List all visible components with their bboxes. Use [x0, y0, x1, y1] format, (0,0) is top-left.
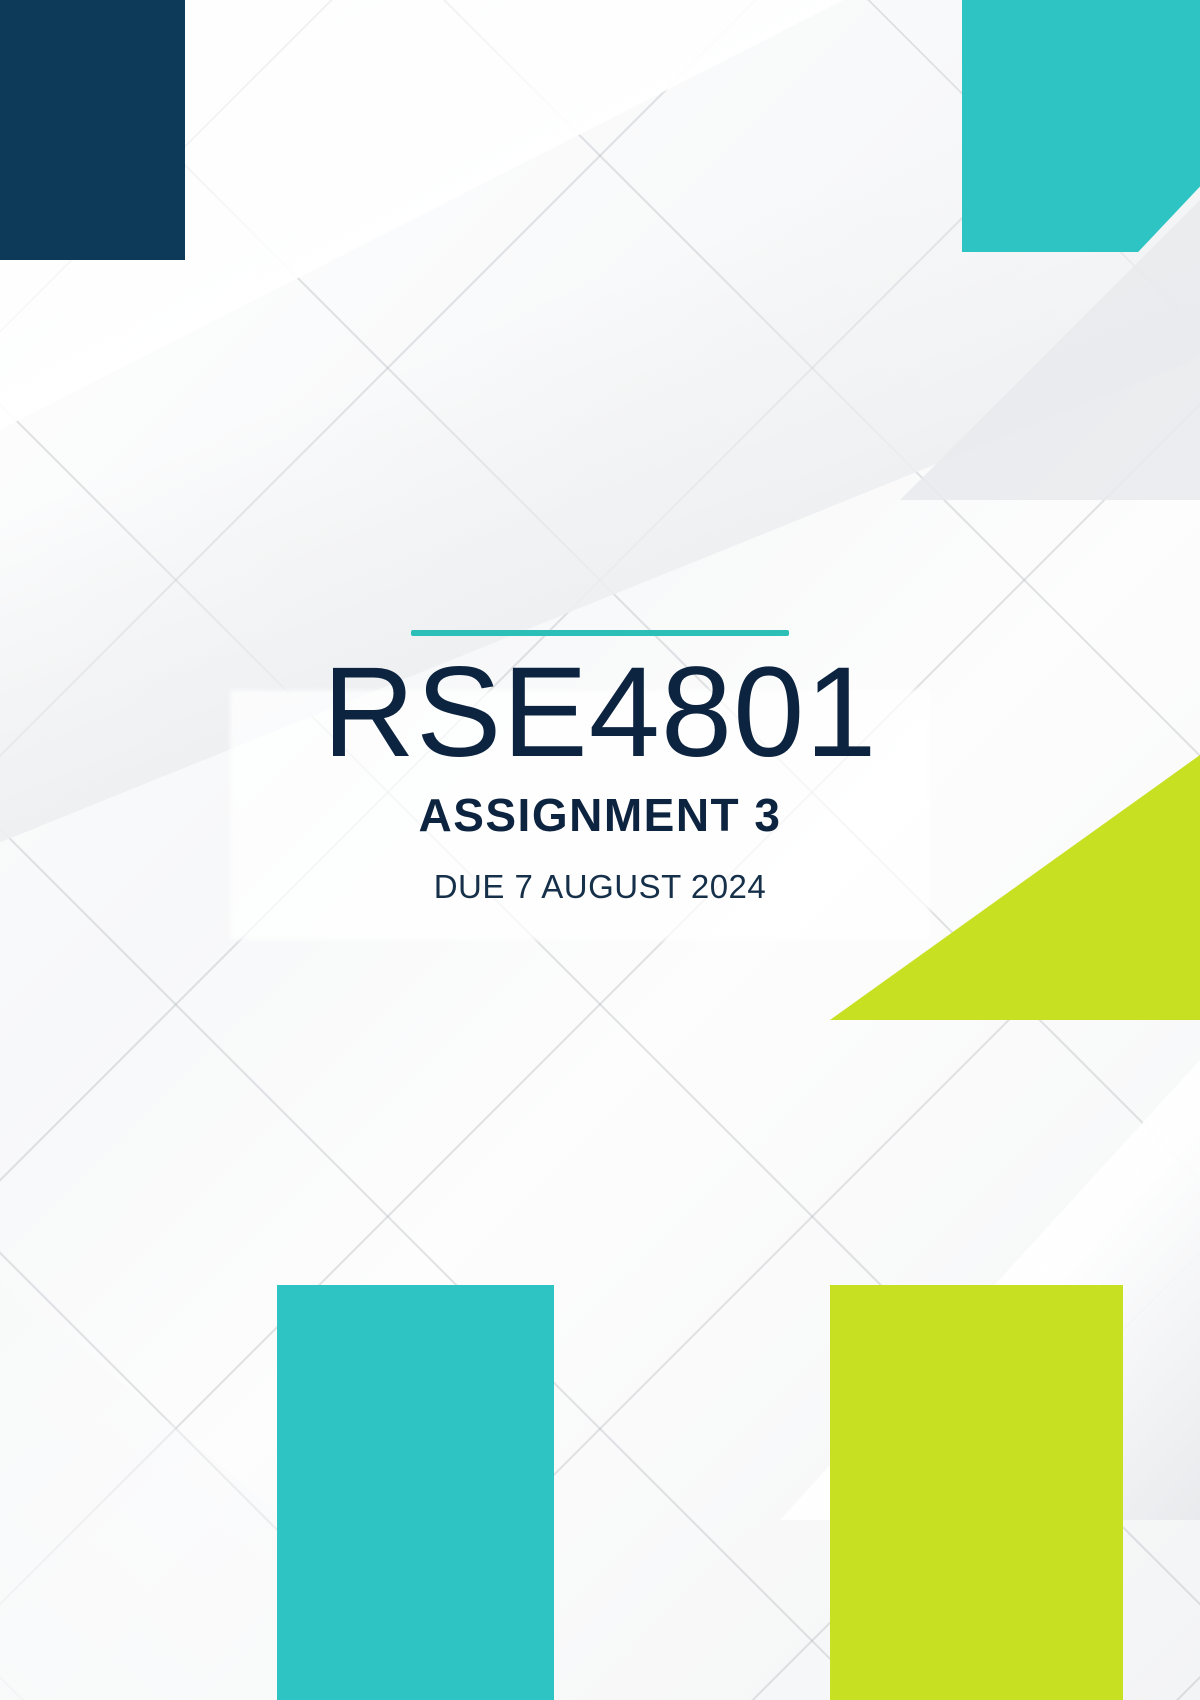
teal-square-bottom-left	[277, 1285, 554, 1700]
teal-block-top-right	[962, 0, 1200, 252]
course-code: RSE4801	[0, 644, 1200, 782]
lime-square-bottom-right	[830, 1285, 1123, 1700]
teal-accent-rule	[411, 630, 789, 636]
assignment-title: ASSIGNMENT 3	[0, 788, 1200, 842]
title-block: RSE4801 ASSIGNMENT 3 DUE 7 AUGUST 2024	[0, 630, 1200, 906]
navy-square-top-left	[0, 0, 185, 260]
due-date: DUE 7 AUGUST 2024	[0, 868, 1200, 906]
cover-page: RSE4801 ASSIGNMENT 3 DUE 7 AUGUST 2024	[0, 0, 1200, 1700]
